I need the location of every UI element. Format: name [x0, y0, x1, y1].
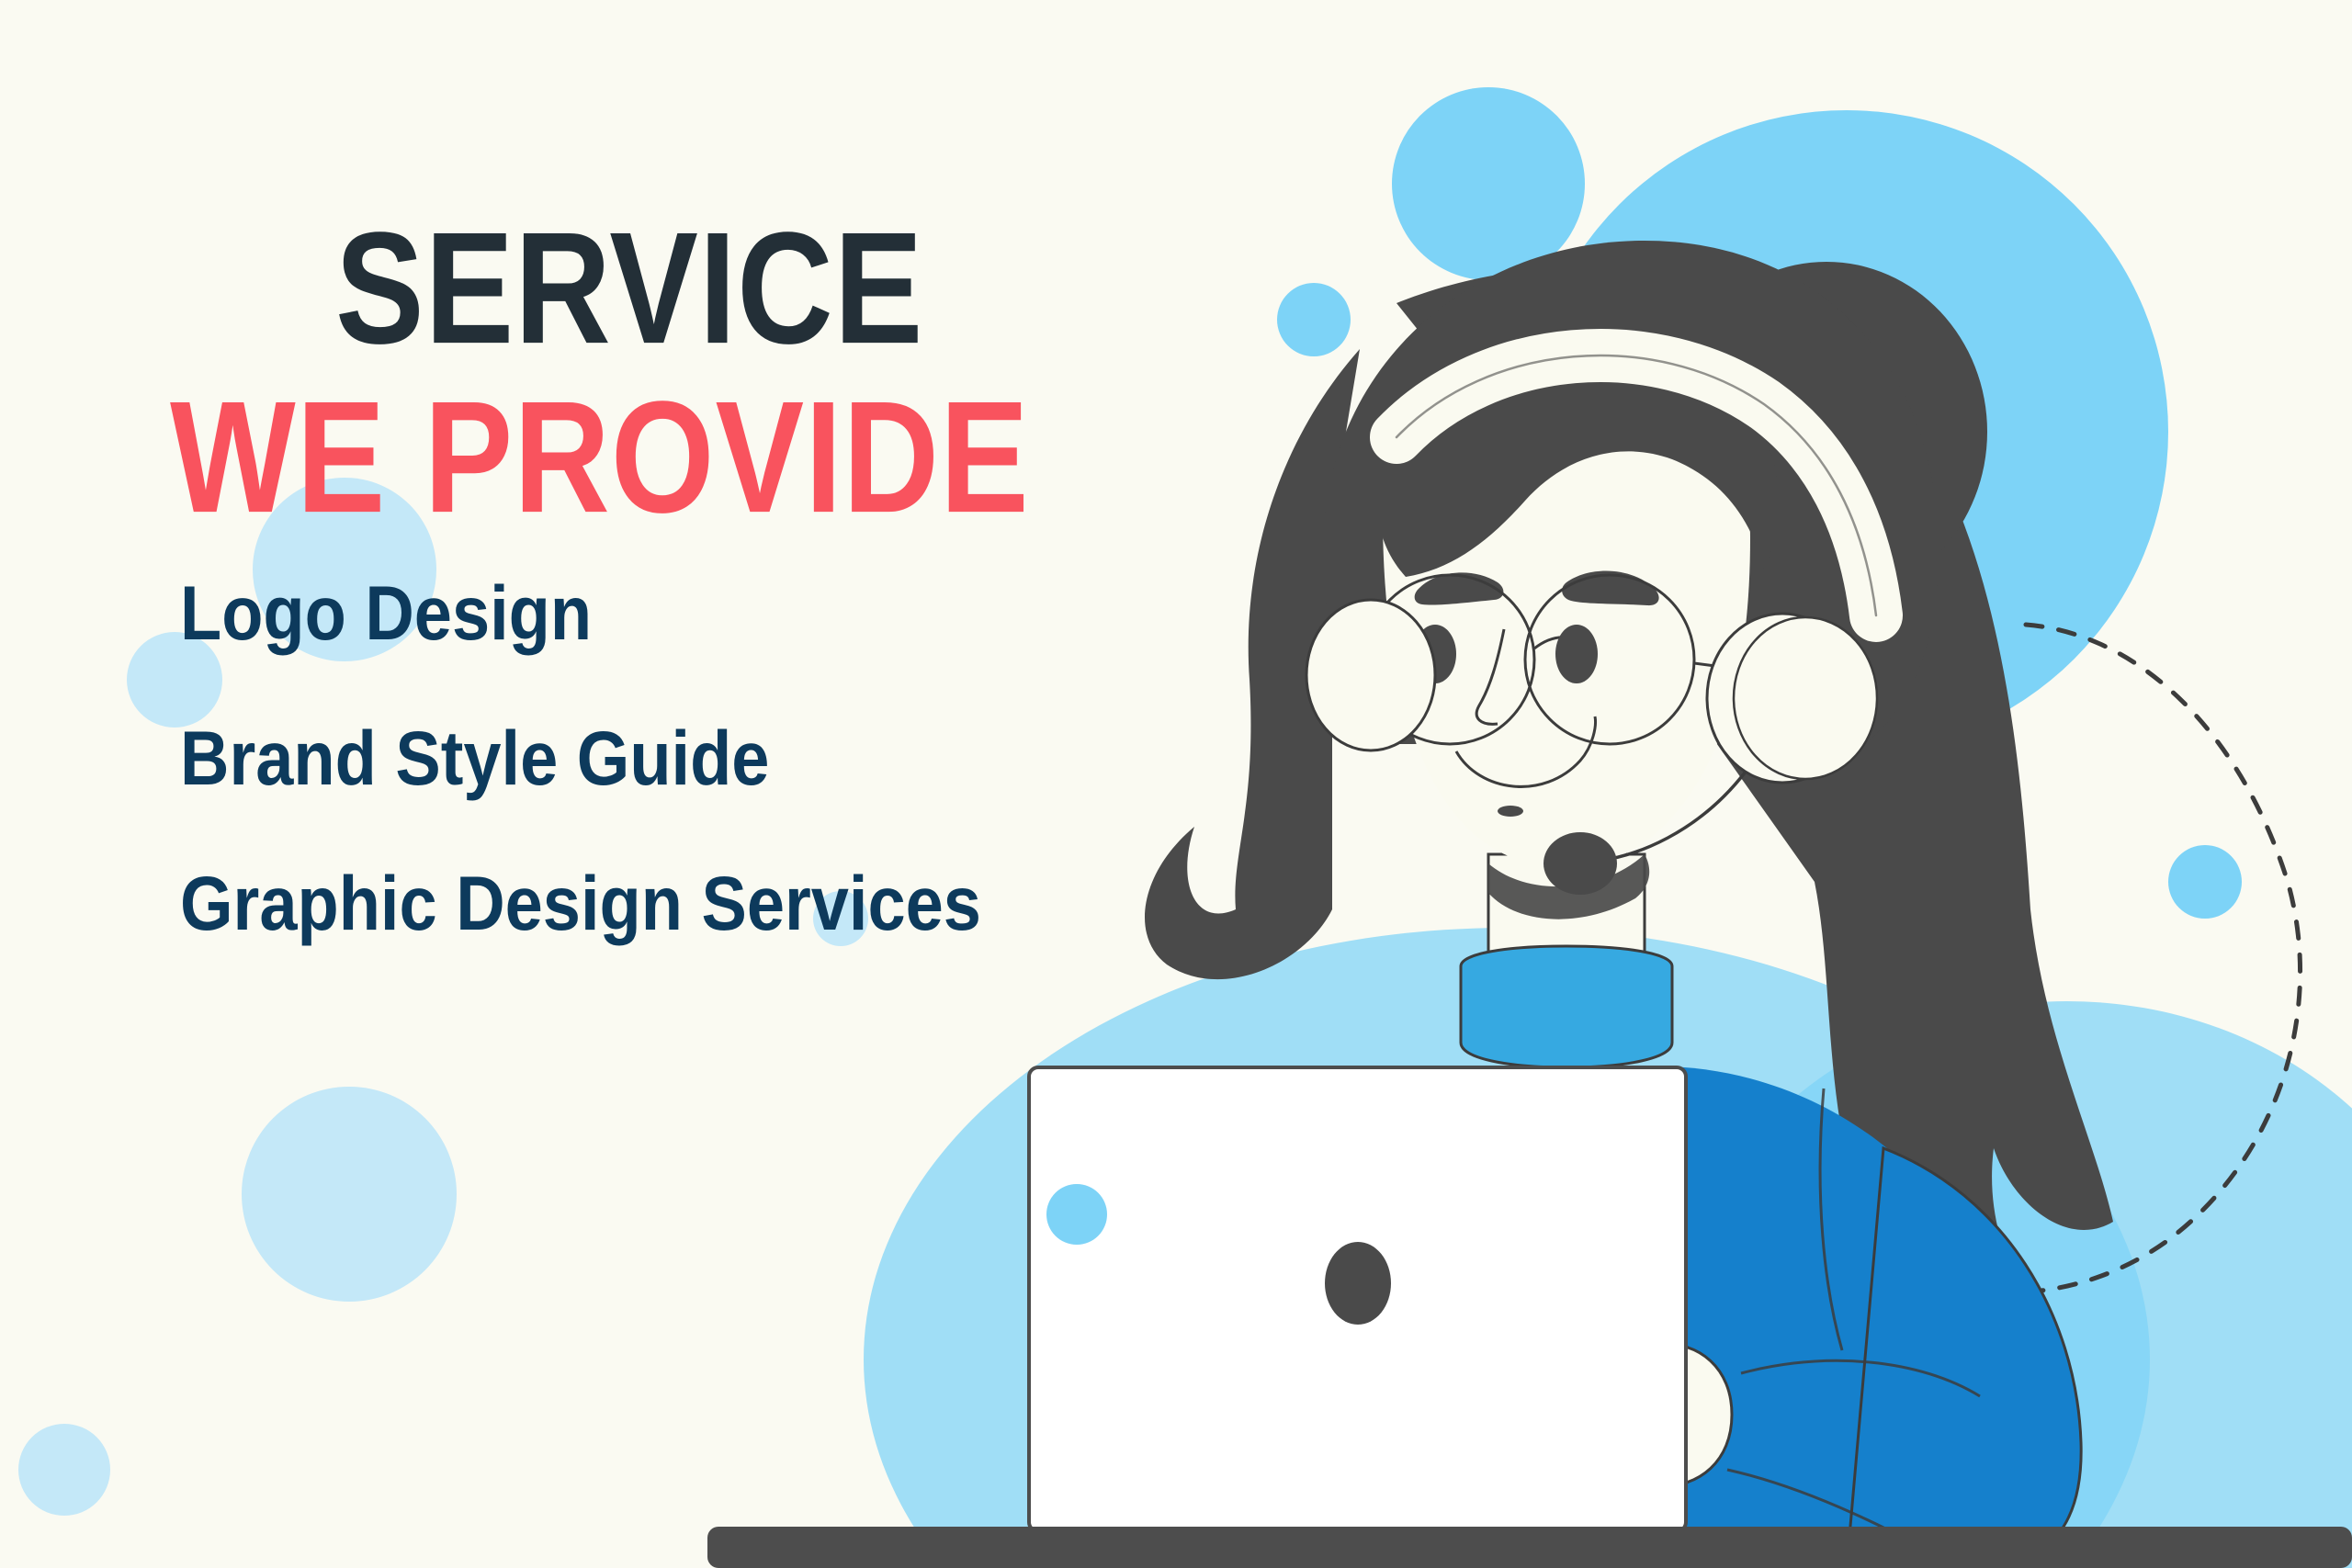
right-small-circle	[2168, 845, 2242, 919]
headphone-earcup-right-inner	[1734, 617, 1877, 779]
left-mid-circle	[127, 632, 222, 728]
sweater-collar	[1461, 946, 1672, 1067]
top-right-circle	[1392, 87, 1585, 280]
illustration-artboard	[0, 0, 2352, 1568]
boom-mic-capsule	[1543, 832, 1617, 895]
left-lower-circle	[242, 1087, 457, 1302]
headline-backdrop-circle	[253, 478, 436, 661]
bottom-left-circle	[18, 1424, 110, 1516]
eye-right	[1555, 625, 1598, 683]
top-left-small-circle	[1277, 283, 1351, 356]
desk-surface	[707, 1527, 2352, 1568]
laptop-logo-dot	[1325, 1242, 1391, 1325]
headphone-earcup-left	[1306, 600, 1435, 750]
laptop-accent-dot	[1046, 1184, 1107, 1245]
laptop-group	[1029, 1067, 1686, 1531]
text-overlap-circle	[813, 891, 868, 946]
lip-mark	[1498, 806, 1523, 817]
banner-canvas: SERVICE WE PROVIDE Logo Design Brand Sty…	[0, 0, 2352, 1568]
